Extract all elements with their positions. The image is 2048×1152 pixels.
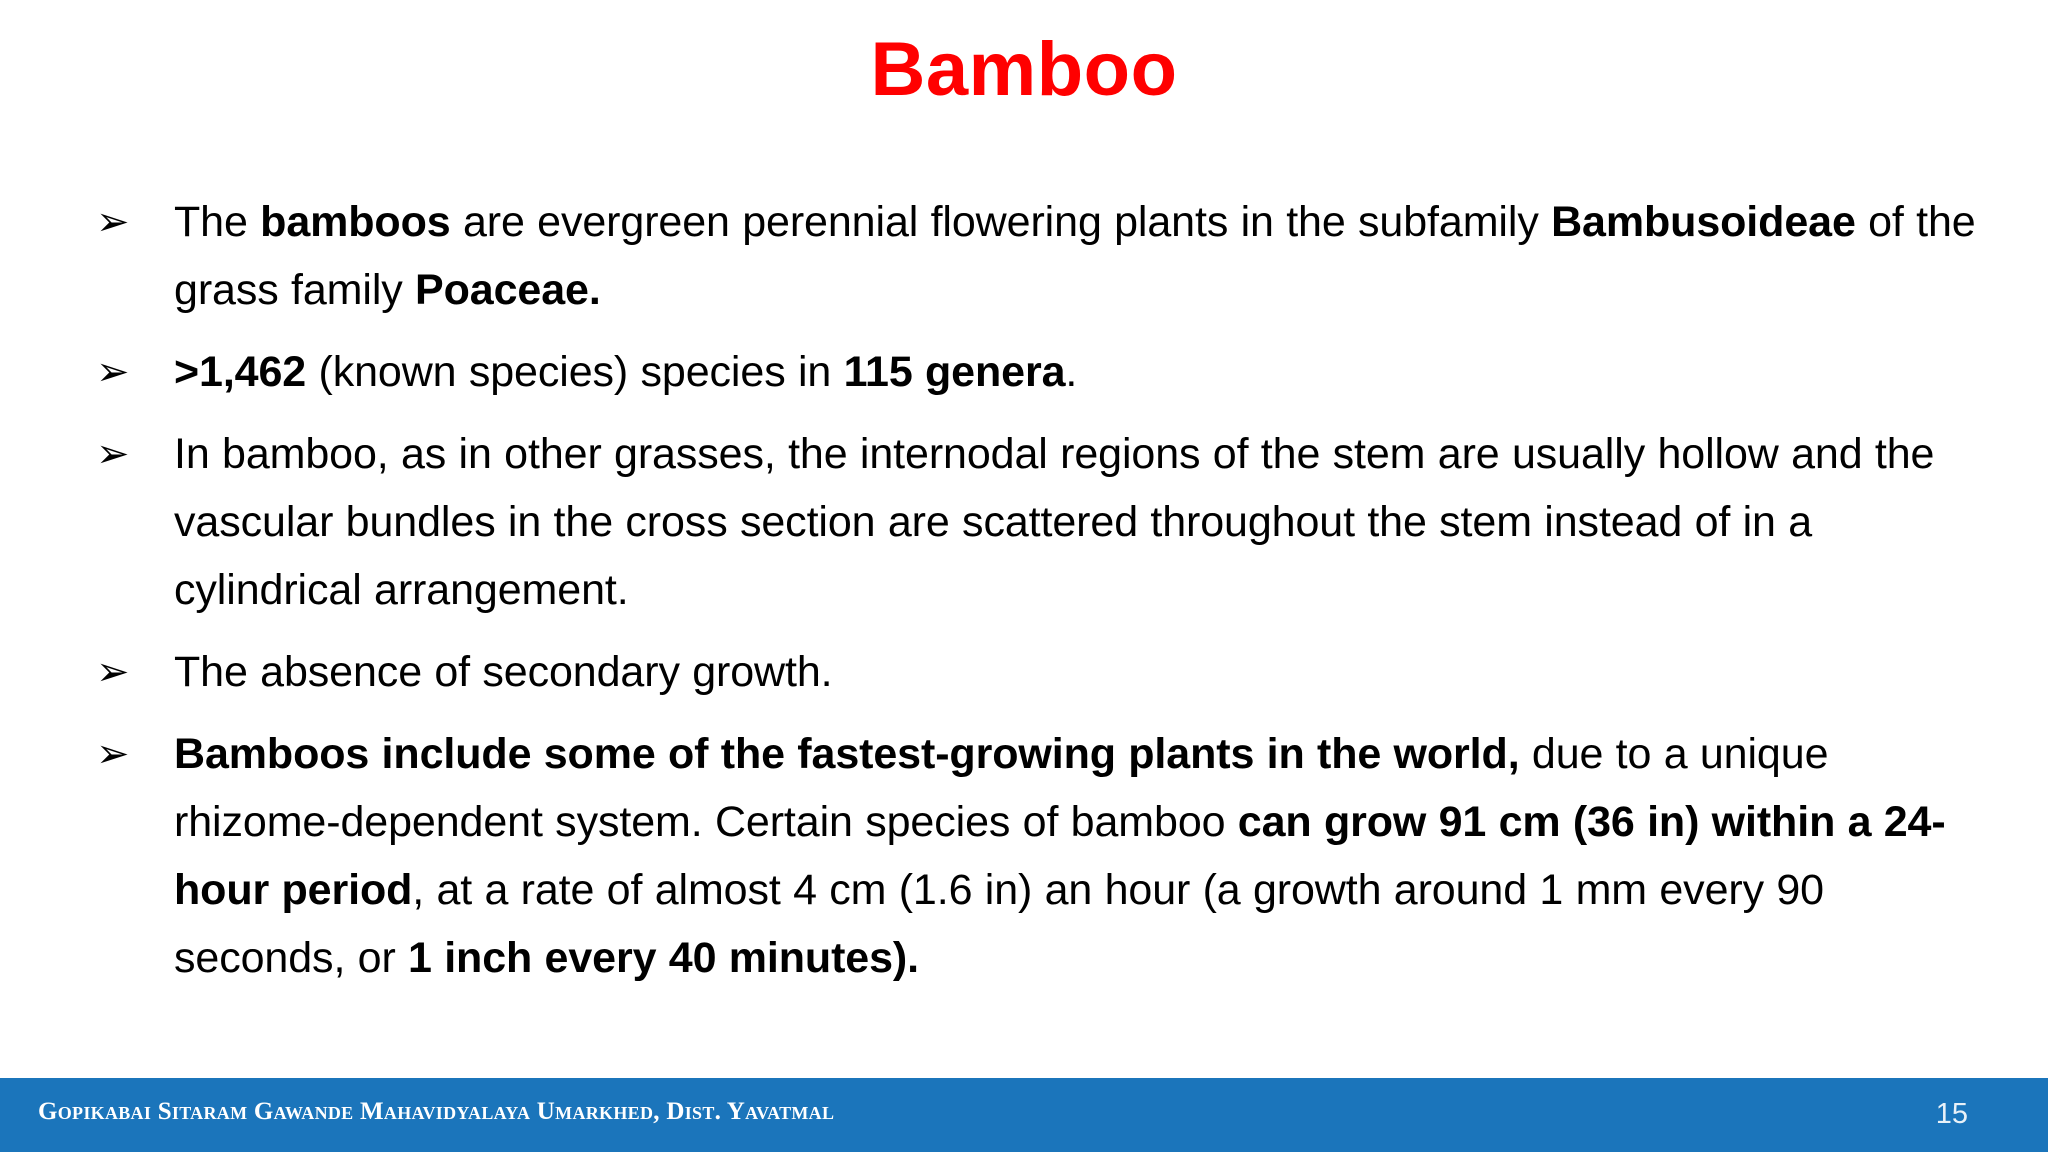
arrow-bullet-icon: ➢ xyxy=(88,338,174,406)
arrow-bullet-icon: ➢ xyxy=(88,420,174,488)
list-item: ➢ Bamboos include some of the fastest-gr… xyxy=(88,720,1988,992)
arrow-bullet-icon: ➢ xyxy=(88,638,174,706)
list-item-text: In bamboo, as in other grasses, the inte… xyxy=(174,420,1988,624)
list-item: ➢ >1,462 (known species) species in 115 … xyxy=(88,338,1988,406)
list-item-text: Bamboos include some of the fastest-grow… xyxy=(174,720,1988,992)
footer-institution-name: Gopikabai Sitaram Gawande Mahavidyalaya … xyxy=(38,1098,834,1126)
arrow-bullet-icon: ➢ xyxy=(88,720,174,788)
bullet-list: ➢ The bamboos are evergreen perennial fl… xyxy=(88,188,1988,1006)
list-item: ➢ In bamboo, as in other grasses, the in… xyxy=(88,420,1988,624)
arrow-bullet-icon: ➢ xyxy=(88,188,174,256)
page-title: Bamboo xyxy=(0,28,2048,112)
footer-bar: Gopikabai Sitaram Gawande Mahavidyalaya … xyxy=(0,1078,2048,1152)
slide-page-number: 15 xyxy=(1936,1098,1968,1131)
presentation-slide: Bamboo ➢ The bamboos are evergreen peren… xyxy=(0,0,2048,1152)
list-item-text: The absence of secondary growth. xyxy=(174,638,1988,706)
list-item-text: The bamboos are evergreen perennial flow… xyxy=(174,188,1988,324)
list-item: ➢ The bamboos are evergreen perennial fl… xyxy=(88,188,1988,324)
list-item-text: >1,462 (known species) species in 115 ge… xyxy=(174,338,1988,406)
list-item: ➢ The absence of secondary growth. xyxy=(88,638,1988,706)
